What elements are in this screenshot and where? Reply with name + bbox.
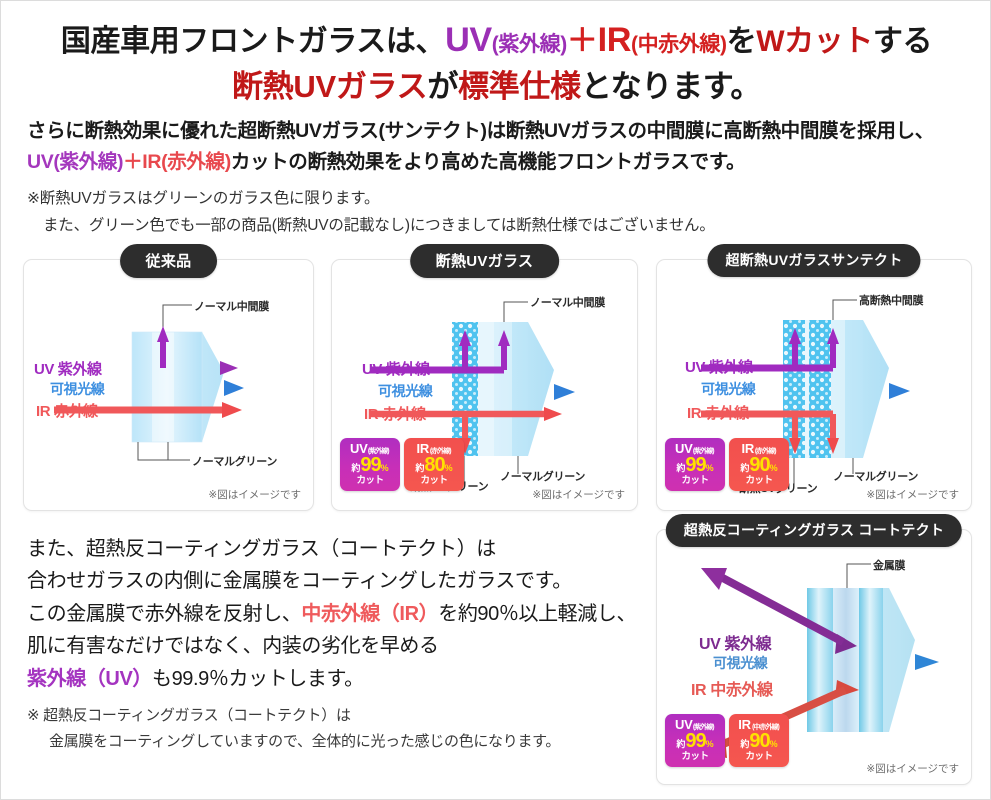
badge-ir-coattect: IR (中赤外線) 約 90 % カット <box>729 714 789 767</box>
bottom-line-3-ir: 中赤外線（IR） <box>301 603 438 625</box>
badge-uv-value-suntect: 約 99 % <box>667 456 723 475</box>
bottom-note-line-1: ※ 超熱反コーティングガラス（コートテクト）は <box>27 707 351 724</box>
badge-uv-value-insulated: 約 99 % <box>342 456 398 475</box>
badge-uv-value-coattect: 約 99 % <box>667 732 723 751</box>
badge-uv-percent-insulated: % <box>381 464 389 473</box>
badge-uv-paren-suntect: (紫外線) <box>693 447 714 454</box>
badge-uv-cut-coattect: カット <box>667 752 723 762</box>
badge-ir-cut-insulated: カット <box>406 476 462 486</box>
callout-interlayer-suntect: 高断熱中間膜 <box>859 292 923 308</box>
ray-label-visible-suntect: 可視光線 <box>701 379 755 399</box>
ray-label-ir-conventional: IR 赤外線 <box>36 400 98 421</box>
headline: 国産車用フロントガラスは、UV(紫外線)＋IR(中赤外線)をWカットする 断熱U… <box>1 19 991 106</box>
bottom-line-3-a: この金属膜で赤外線を反射し、 <box>27 603 301 625</box>
panel-caption-suntect: ※図はイメージです <box>866 487 959 502</box>
ray-label-ir-insulated: IR 赤外線 <box>364 403 426 424</box>
badge-uv-coattect: UV (紫外線) 約 99 % カット <box>665 714 725 767</box>
headline-prefix: 国産車用フロントガラスは、 <box>61 25 445 58</box>
bottom-line-3: この金属膜で赤外線を反射し、中赤外線（IR）を約90％以上軽減し、 <box>27 598 647 630</box>
lead-text-1: さらに断熱効果に優れた超断熱UVガラス(サンテクト)は断熱UVガラスの中間膜に高… <box>27 120 934 142</box>
lead-ir: IR(赤外線) <box>142 151 231 173</box>
bottom-line-1: また、超熱反コーティングガラス（コートテクト）は <box>27 533 647 565</box>
headline-wo: を <box>727 25 757 58</box>
ray-label-uv-coattect: UV 紫外線 <box>699 630 771 654</box>
ray-label-uv-suntect: UV 紫外線 <box>685 356 753 377</box>
badge-uv-number-insulated: 99 <box>360 456 380 475</box>
lead-note: ※断熱UVガラスはグリーンのガラス色に限ります。 また、グリーン色でも一部の商品… <box>27 186 972 239</box>
infographic-page: 国産車用フロントガラスは、UV(紫外線)＋IR(中赤外線)をWカットする 断熱U… <box>0 0 991 800</box>
lead-rest: カットの断熱効果をより高めた高機能フロントガラスです。 <box>231 151 745 173</box>
ray-label-visible-insulated: 可視光線 <box>378 381 432 401</box>
lead-note-line-2: また、グリーン色でも一部の商品(断熱UVの記載なし)につきましては断熱仕様ではご… <box>27 213 972 240</box>
badge-uv-cut-suntect: カット <box>667 476 723 486</box>
badge-uv-number-suntect: 99 <box>685 456 705 475</box>
badge-ir-insulated: IR (赤外線) 約 80 % カット <box>404 438 464 491</box>
badges-insulated: UV (紫外線) 約 99 % カット IR (赤外線) 約 80 <box>340 438 464 491</box>
badge-uv-suntect: UV (紫外線) 約 99 % カット <box>665 438 725 491</box>
badge-ir-value-insulated: 約 80 % <box>406 456 462 475</box>
badge-uv-head-suntect: UV (紫外線) <box>667 442 723 455</box>
bottom-line-3-b: を約90％以上軽減し、 <box>438 603 636 625</box>
badge-uv-head-insulated: UV (紫外線) <box>342 442 398 455</box>
badge-uv-cut-insulated: カット <box>342 476 398 486</box>
badge-uv-number-coattect: 99 <box>685 732 705 751</box>
panel-caption-insulated: ※図はイメージです <box>532 487 625 502</box>
ray-label-visible-coattect: 可視光線 <box>713 653 767 673</box>
bottom-line-5: 紫外線（UV）も99.9％カットします。 <box>27 663 647 695</box>
ray-label-visible-conventional: 可視光線 <box>50 379 104 399</box>
callout-normalgreen-insulated: ノーマルグリーン <box>500 468 585 484</box>
headline-ga: が <box>427 69 458 104</box>
badge-uv-paren-coattect: (紫外線) <box>693 723 714 730</box>
bottom-line-4: 肌に有害なだけではなく、内装の劣化を早める <box>27 630 647 662</box>
badge-ir-paren-suntect: (赤外線) <box>755 447 776 454</box>
badge-ir-approx-insulated: 約 <box>415 464 424 473</box>
callout-interlayer-conventional: ノーマル中間膜 <box>194 298 269 314</box>
badge-uv-percent-coattect: % <box>706 740 714 749</box>
badge-ir-approx-suntect: 約 <box>740 464 749 473</box>
panel-uv-insulated: 断熱UVガラス <box>331 259 638 511</box>
badge-uv-paren-insulated: (紫外線) <box>368 447 389 454</box>
badge-ir-head-coattect: IR (中赤外線) <box>731 718 787 731</box>
badge-uv-insulated: UV (紫外線) 約 99 % カット <box>340 438 400 491</box>
callout-interlayer-insulated: ノーマル中間膜 <box>530 294 605 310</box>
badge-ir-paren-insulated: (赤外線) <box>430 447 451 454</box>
badges-suntect: UV (紫外線) 約 99 % カット IR (赤外線) 約 90 <box>665 438 789 491</box>
badge-ir-paren-coattect: (中赤外線) <box>752 723 779 730</box>
lead-note-line-1: ※断熱UVガラスはグリーンのガラス色に限ります。 <box>27 190 379 207</box>
lead-line-2: UV(紫外線)＋IR(赤外線)カットの断熱効果をより高めた高機能フロントガラスで… <box>27 147 972 178</box>
headline-tail: となります。 <box>581 69 761 104</box>
badge-uv-percent-suntect: % <box>706 464 714 473</box>
badge-ir-number-insulated: 80 <box>424 456 444 475</box>
badge-ir-head-insulated: IR (赤外線) <box>406 442 462 455</box>
headline-ir-paren: (中赤外線) <box>631 33 727 56</box>
badge-uv-head-coattect: UV (紫外線) <box>667 718 723 731</box>
badge-ir-cut-suntect: カット <box>731 476 787 486</box>
headline-uv-paren: (紫外線) <box>492 33 567 56</box>
ray-label-ir-coattect: IR 中赤外線 <box>691 676 773 700</box>
badges-coattect: UV (紫外線) 約 99 % カット IR (中赤外線) 約 90 <box>665 714 789 767</box>
headline-plus: ＋ <box>567 23 598 58</box>
badge-ir-head-suntect: IR (赤外線) <box>731 442 787 455</box>
badge-ir-percent-suntect: % <box>770 464 778 473</box>
panel-coattect: 超熱反コーティングガラス コートテクト <box>656 529 972 785</box>
badge-ir-number-coattect: 90 <box>749 732 769 751</box>
bottom-line-2: 合わせガラスの内側に金属膜をコーティングしたガラスです。 <box>27 565 647 597</box>
ray-label-uv-conventional: UV 紫外線 <box>34 358 102 379</box>
bottom-line-5-uv: 紫外線（UV） <box>27 668 152 690</box>
lead-uv: UV(紫外線) <box>27 151 123 173</box>
callout-normalgreen-suntect: ノーマルグリーン <box>833 468 918 484</box>
badge-ir-number-suntect: 90 <box>749 456 769 475</box>
headline-ir: IR <box>598 21 631 59</box>
headline-line-1: 国産車用フロントガラスは、UV(紫外線)＋IR(中赤外線)をWカットする <box>1 19 991 63</box>
badge-ir-percent-coattect: % <box>770 740 778 749</box>
panel-super-suntect: 超断熱UVガラスサンテクト <box>656 259 972 511</box>
panel-conventional: 従来品 <box>23 259 314 511</box>
bottom-note-line-2: 金属膜をコーティングしていますので、全体的に光った感じの色になります。 <box>27 729 647 755</box>
bottom-description: また、超熱反コーティングガラス（コートテクト）は 合わせガラスの内側に金属膜をコ… <box>27 533 647 695</box>
headline-product: 断熱UVガラス <box>232 69 427 104</box>
ray-label-uv-insulated: UV 紫外線 <box>362 358 430 379</box>
badge-uv-approx-coattect: 約 <box>676 740 685 749</box>
lead-paragraph: さらに断熱効果に優れた超断熱UVガラス(サンテクト)は断熱UVガラスの中間膜に高… <box>27 116 972 178</box>
panel-caption-coattect: ※図はイメージです <box>866 761 959 776</box>
headline-standard: 標準仕様 <box>458 69 581 104</box>
headline-wcut: Wカット <box>756 25 873 58</box>
badge-uv-approx-suntect: 約 <box>676 464 685 473</box>
headline-suru: する <box>873 25 932 58</box>
badge-ir-cut-coattect: カット <box>731 752 787 762</box>
headline-uv: UV <box>445 21 492 59</box>
badge-ir-percent-insulated: % <box>445 464 453 473</box>
panel-caption-conventional: ※図はイメージです <box>208 487 301 502</box>
callout-metalfilm-coattect: 金属膜 <box>873 557 905 573</box>
bottom-note: ※ 超熱反コーティングガラス（コートテクト）は 金属膜をコーティングしていますの… <box>27 703 647 756</box>
badge-uv-approx-insulated: 約 <box>351 464 360 473</box>
bottom-line-5-b: も99.9％カットします。 <box>152 668 364 690</box>
callout-green-conventional: ノーマルグリーン <box>192 453 277 469</box>
ray-label-ir-suntect: IR 赤外線 <box>687 402 749 423</box>
lead-plus: ＋ <box>123 151 142 173</box>
headline-line-2: 断熱UVガラスが標準仕様となります。 <box>1 67 991 107</box>
badge-ir-approx-coattect: 約 <box>740 740 749 749</box>
badge-ir-suntect: IR (赤外線) 約 90 % カット <box>729 438 789 491</box>
badge-ir-value-coattect: 約 90 % <box>731 732 787 751</box>
badge-ir-value-suntect: 約 90 % <box>731 456 787 475</box>
lead-line-1: さらに断熱効果に優れた超断熱UVガラス(サンテクト)は断熱UVガラスの中間膜に高… <box>27 116 972 147</box>
